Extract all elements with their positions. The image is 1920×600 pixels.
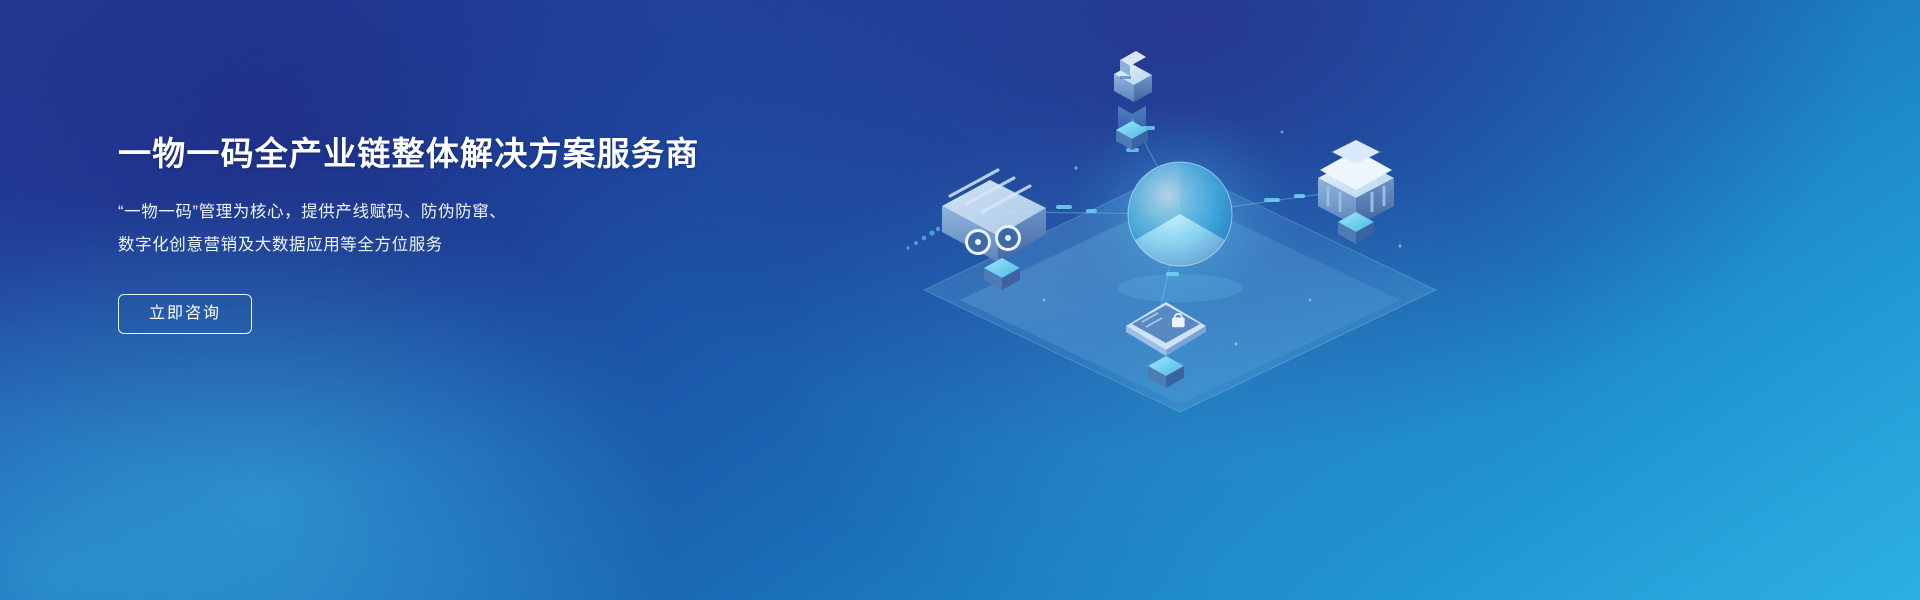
hero-subcopy-line-2: 数字化创意营销及大数据应用等全方位服务 [118,229,858,262]
server-signal-waves [906,227,940,250]
consult-now-button[interactable]: 立即咨询 [118,294,252,334]
hero-subcopy-line-1: “一物一码”管理为核心，提供产线赋码、防伪防窜、 [118,196,858,229]
hero-copy-block: 一物一码全产业链整体解决方案服务商 “一物一码”管理为核心，提供产线赋码、防伪防… [118,134,858,334]
bank-building-node [1318,140,1394,244]
hero-banner: 一物一码全产业链整体解决方案服务商 “一物一码”管理为核心，提供产线赋码、防伪防… [0,0,1920,600]
pos-terminal-node [1114,51,1152,150]
hero-headline: 一物一码全产业链整体解决方案服务商 [118,134,858,174]
hero-subcopy: “一物一码”管理为核心，提供产线赋码、防伪防窜、 数字化创意营销及大数据应用等全… [118,196,858,262]
hero-illustration [880,0,1500,600]
pos-terminal-icon [1114,51,1152,102]
data-globe-sphere [1062,106,1298,330]
